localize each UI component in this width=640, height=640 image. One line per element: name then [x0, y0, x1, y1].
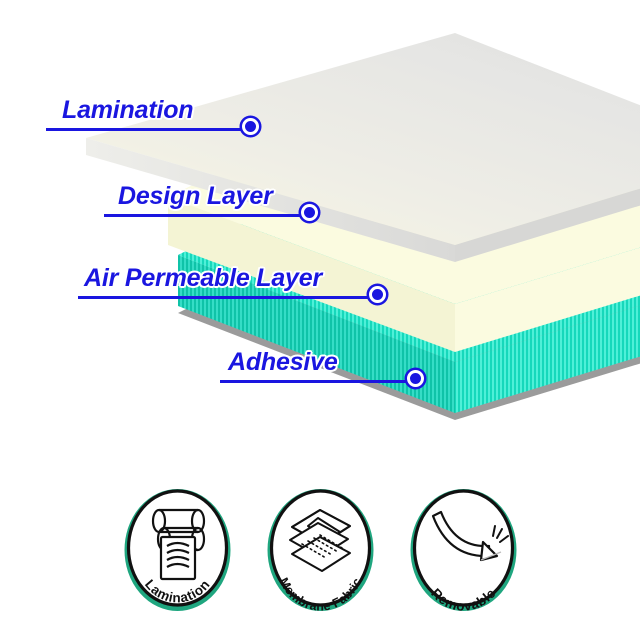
callout-marker-dot[interactable]	[372, 289, 383, 300]
callout-rule	[104, 214, 310, 217]
callout-label-air-permeable-layer: Air Permeable Layer	[84, 264, 322, 293]
callout-rule	[46, 128, 251, 131]
callout-label-lamination: Lamination	[62, 96, 193, 125]
callout-label-design-layer: Design Layer	[118, 182, 273, 211]
callout-rule	[78, 296, 378, 299]
callout-marker-dot[interactable]	[410, 373, 421, 384]
feature-badge-row: Lamination	[0, 482, 640, 632]
callout-label-adhesive: Adhesive	[228, 348, 338, 377]
callout-rule	[220, 380, 416, 383]
badge-removable[interactable]: Removable	[405, 482, 522, 618]
badge-lamination[interactable]: Lamination	[119, 482, 236, 618]
callout-marker-dot[interactable]	[245, 121, 256, 132]
product-layer-infographic: Lamination Design Layer Air Permeable La…	[0, 0, 640, 640]
badge-membrane-fabric[interactable]: Membrane Fabric	[262, 482, 379, 618]
callout-marker-dot[interactable]	[304, 207, 315, 218]
